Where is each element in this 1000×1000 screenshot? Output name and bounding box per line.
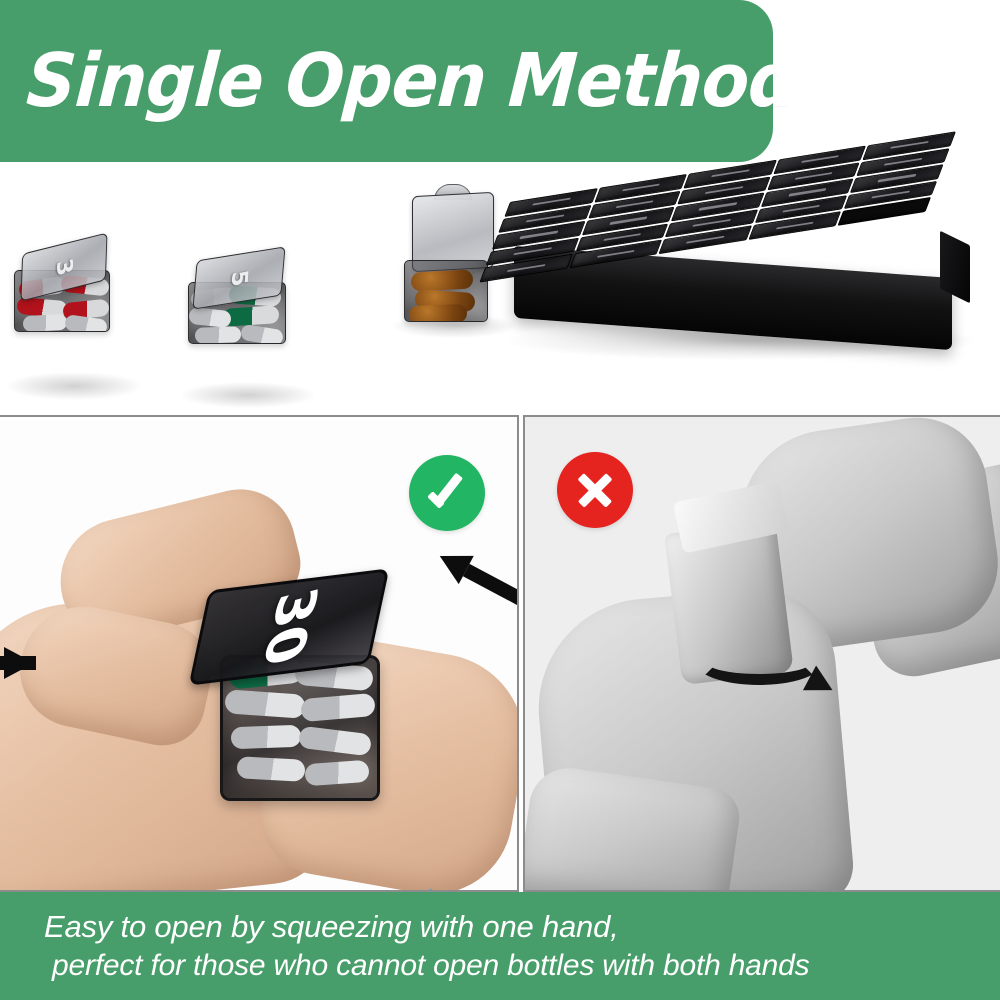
- twist-arrow-icon: [695, 639, 823, 685]
- capsule: [188, 307, 232, 328]
- check-glyph: [424, 470, 470, 516]
- capsule: [231, 725, 302, 749]
- caption-line-2: perfect for those who cannot open bottle…: [44, 947, 1000, 985]
- panel-correct-method: 30: [0, 415, 519, 892]
- capsule: [224, 689, 305, 719]
- pillbox-green-shadow: [180, 382, 316, 408]
- organizer-tray: [500, 180, 980, 360]
- x-glyph: [572, 467, 618, 513]
- pillbox-green: 5: [180, 230, 305, 350]
- caption-line-1: Easy to open by squeezing with one hand,: [44, 907, 1000, 946]
- pillbox-red: 3: [8, 222, 128, 342]
- infographic-page: Single Open Method 3: [0, 0, 1000, 1000]
- capsule: [240, 324, 284, 344]
- capsule: [64, 314, 108, 332]
- squeeze-arrow-left-icon: [4, 647, 34, 679]
- page-title: Single Open Method: [0, 44, 799, 118]
- panel-incorrect-method: [523, 415, 1000, 892]
- header-banner: Single Open Method: [0, 0, 773, 162]
- pillbox-red-lid-number: 3: [52, 255, 77, 278]
- caption-band: Easy to open by squeezing with one hand,…: [0, 892, 1000, 1000]
- squeezed-pillbox: 30: [188, 569, 438, 819]
- x-circle-icon: [557, 452, 633, 528]
- check-circle-icon: [409, 455, 485, 531]
- capsule: [236, 756, 305, 782]
- pillbox-amber-body: [404, 260, 488, 322]
- product-strip: 3 5: [0, 162, 1000, 415]
- comparison-panels: 30: [0, 415, 1000, 892]
- softgel: [411, 269, 474, 291]
- capsule: [300, 693, 376, 722]
- pillbox-red-shadow: [6, 372, 142, 400]
- capsule: [195, 326, 242, 344]
- squeeze-arrow-right-icon: [432, 542, 474, 584]
- pillbox-green-lid-number: 5: [226, 268, 252, 288]
- capsule: [222, 305, 279, 327]
- capsule: [298, 726, 372, 757]
- capsule: [23, 314, 68, 332]
- capsule: [304, 760, 369, 786]
- softgel: [409, 304, 468, 322]
- squeezed-pillbox-label: 30: [249, 581, 329, 672]
